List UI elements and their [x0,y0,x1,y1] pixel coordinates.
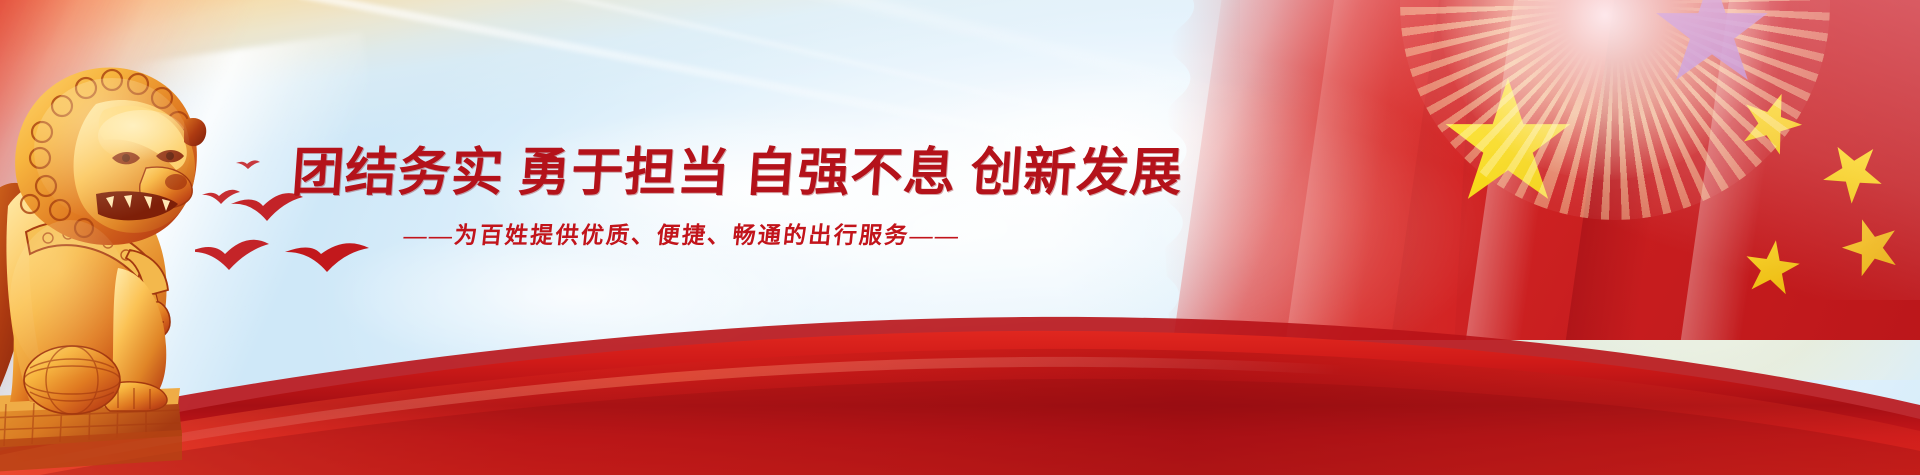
lion-svg [0,0,270,475]
propaganda-banner: 团结务实 勇于担当 自强不息 创新发展 ——为百姓提供优质、便捷、畅通的出行服务… [0,0,1920,475]
wave-svg [0,255,1920,475]
slogan-block: 团结务实 勇于担当 自强不息 创新发展 ——为百姓提供优质、便捷、畅通的出行服务… [292,146,1032,250]
stone-lion-statue [0,0,270,475]
red-silk-wave [0,255,1920,475]
subtitle-slogan: ——为百姓提供优质、便捷、畅通的出行服务—— [402,216,1034,250]
headline-slogan: 团结务实 勇于担当 自强不息 创新发展 [290,146,1034,202]
